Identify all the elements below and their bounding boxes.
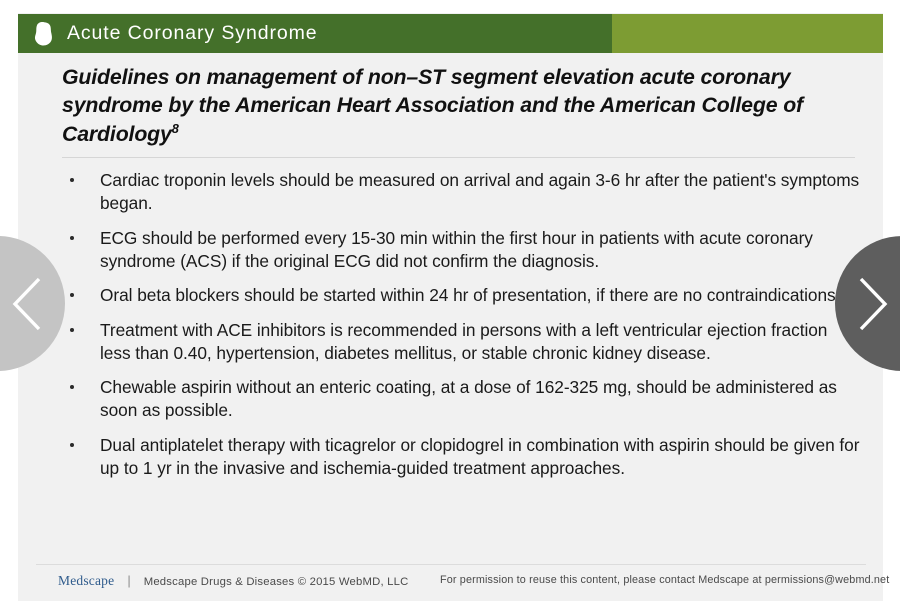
list-item: Cardiac troponin levels should be measur… bbox=[62, 169, 862, 215]
chevron-left-icon bbox=[7, 275, 47, 333]
slide-content: Guidelines on management of non–ST segme… bbox=[18, 53, 883, 601]
footer-permission-notice: For permission to reuse this content, pl… bbox=[440, 574, 889, 586]
footer-separator: | bbox=[127, 573, 130, 588]
list-item: Dual antiplatelet therapy with ticagrelo… bbox=[62, 434, 862, 480]
footer-copyright: Medscape Drugs & Diseases © 2015 WebMD, … bbox=[144, 576, 409, 588]
slide-frame-top bbox=[0, 0, 900, 13]
header-title: Acute Coronary Syndrome bbox=[67, 22, 317, 45]
page-title-reference: 8 bbox=[172, 121, 179, 136]
heart-icon bbox=[33, 21, 55, 47]
list-item: Chewable aspirin without an enteric coat… bbox=[62, 376, 862, 422]
list-item: Oral beta blockers should be started wit… bbox=[62, 284, 862, 307]
list-item: Treatment with ACE inhibitors is recomme… bbox=[62, 319, 862, 365]
slide-footer: Medscape | Medscape Drugs & Diseases © 2… bbox=[36, 564, 866, 598]
page-title: Guidelines on management of non–ST segme… bbox=[62, 63, 862, 148]
list-item: ECG should be performed every 15-30 min … bbox=[62, 227, 862, 273]
bullet-list: Cardiac troponin levels should be measur… bbox=[62, 169, 862, 491]
slide-header-bar: Acute Coronary Syndrome bbox=[18, 14, 883, 53]
footer-left-group: Medscape | Medscape Drugs & Diseases © 2… bbox=[58, 573, 408, 589]
chevron-right-icon bbox=[853, 275, 893, 333]
presentation-slide: Acute Coronary Syndrome Guidelines on ma… bbox=[0, 0, 900, 604]
medscape-logo: Medscape bbox=[58, 573, 114, 589]
title-divider bbox=[62, 157, 855, 158]
header-band-light bbox=[612, 14, 883, 53]
